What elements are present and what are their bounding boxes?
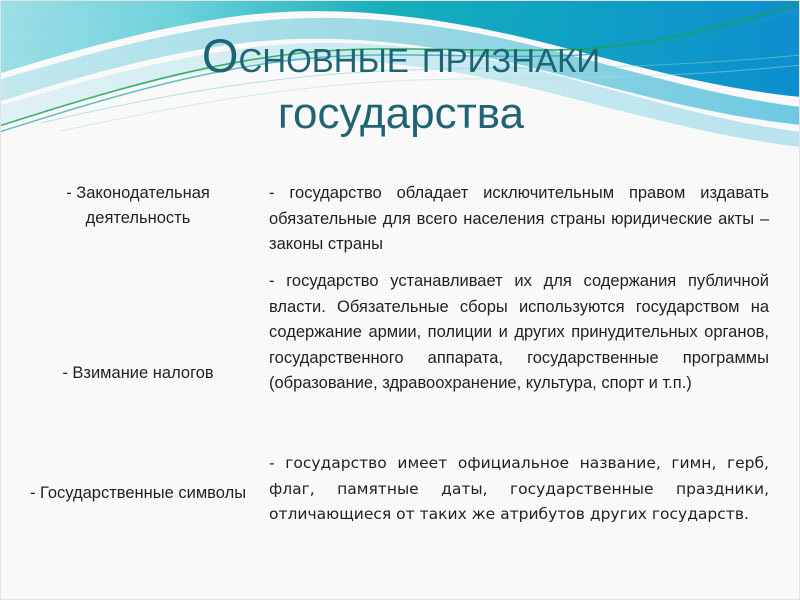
paragraph-taxation: - государство устанавливает их для содер…	[269, 269, 769, 397]
content-row: - Взимание налогов - государство устанав…	[1, 269, 800, 397]
slide-content-table: - Законодательная деятельность - государ…	[1, 173, 800, 573]
row-body-taxation: - государство устанавливает их для содер…	[269, 269, 800, 397]
row-label-state-symbols: - Государственные символы	[1, 451, 269, 506]
content-row: - Законодательная деятельность - государ…	[1, 181, 800, 258]
slide-title-line-1: Основные признаки	[1, 27, 800, 85]
row-label-taxation: - Взимание налогов	[1, 269, 269, 386]
row-body-state-symbols: - государство имеет официальное название…	[269, 451, 800, 528]
presentation-slide: Основные признаки государства - Законода…	[0, 0, 800, 600]
row-body-legislative: - государство обладает исключительным пр…	[269, 181, 800, 258]
paragraph-state-symbols: - государство имеет официальное название…	[269, 451, 769, 528]
row-label-legislative: - Законодательная деятельность	[1, 181, 269, 231]
slide-title: Основные признаки государства	[1, 27, 800, 143]
content-row: - Государственные символы - государство …	[1, 451, 800, 528]
slide-title-line-2: государства	[1, 85, 800, 143]
paragraph-legislative: - государство обладает исключительным пр…	[269, 181, 769, 258]
